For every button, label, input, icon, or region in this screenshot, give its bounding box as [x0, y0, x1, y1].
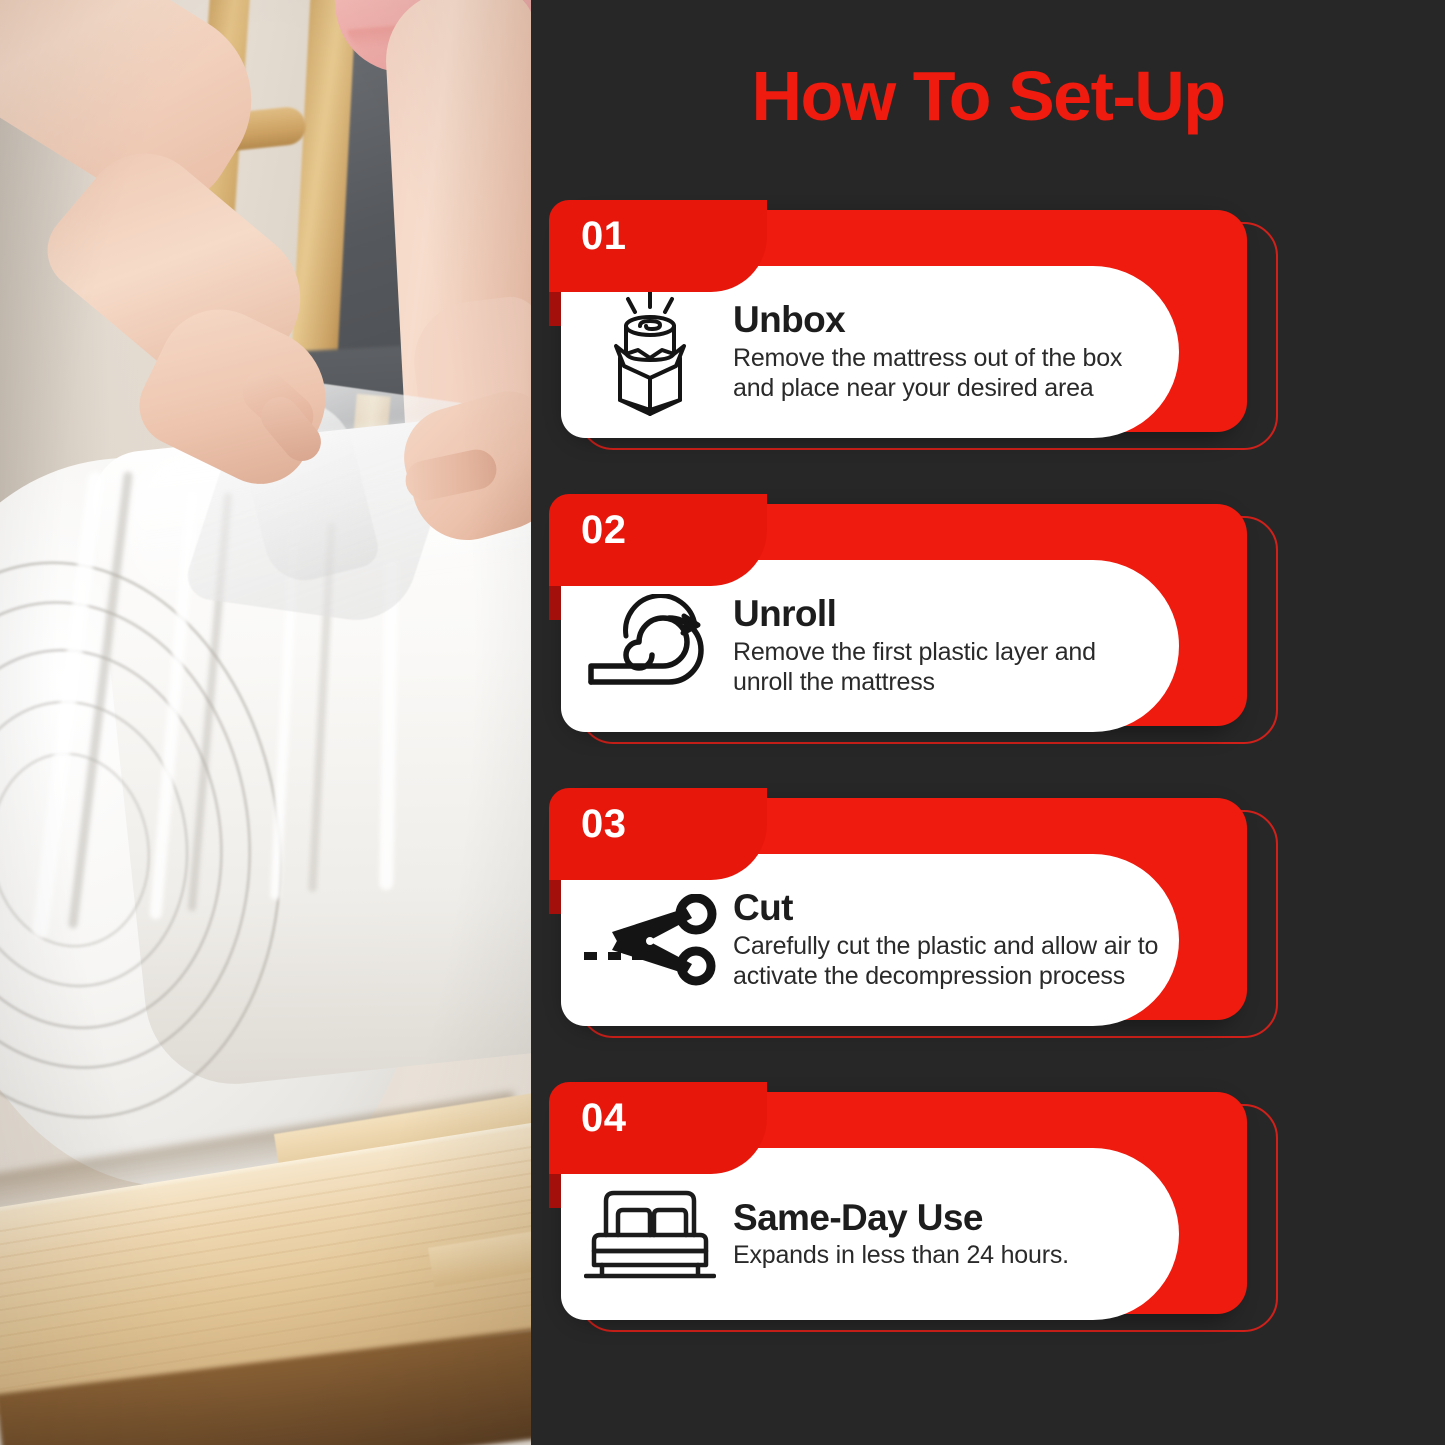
step-title: Unbox	[733, 300, 1161, 339]
step-text-block: Unroll Remove the first plastic layer an…	[725, 594, 1179, 697]
steps-list: 01	[531, 200, 1445, 1376]
step-number-tab: 04	[549, 1082, 767, 1174]
unroll-spiral-icon	[575, 571, 725, 721]
step-description: Carefully cut the plastic and allow air …	[733, 931, 1161, 992]
step-card-01[interactable]: 01	[543, 200, 1278, 450]
page-title: How To Set-Up	[531, 56, 1445, 136]
step-text-block: Same-Day Use Expands in less than 24 hou…	[725, 1198, 1179, 1271]
scissors-icon	[575, 865, 725, 1015]
step-title: Same-Day Use	[733, 1198, 1161, 1237]
step-number-tab: 02	[549, 494, 767, 586]
step-card-02[interactable]: 02 Unroll	[543, 494, 1278, 744]
mattress-unwrapping-photo	[0, 0, 531, 1445]
step-number-label: 02	[581, 510, 627, 550]
step-description: Expands in less than 24 hours.	[733, 1240, 1161, 1271]
step-card-04[interactable]: 04	[543, 1082, 1278, 1332]
open-box-icon	[575, 277, 725, 427]
step-number-label: 04	[581, 1098, 627, 1138]
step-card-03[interactable]: 03	[543, 788, 1278, 1038]
step-description: Remove the first plastic layer and unrol…	[733, 637, 1161, 698]
step-description: Remove the mattress out of the box and p…	[733, 343, 1161, 404]
how-to-set-up-infographic: How To Set-Up 01	[0, 0, 1445, 1445]
steps-panel: How To Set-Up 01	[531, 0, 1445, 1445]
step-number-label: 03	[581, 804, 627, 844]
step-text-block: Cut Carefully cut the plastic and allow …	[725, 888, 1179, 991]
step-text-block: Unbox Remove the mattress out of the box…	[725, 300, 1179, 403]
step-number-tab: 01	[549, 200, 767, 292]
step-number-label: 01	[581, 216, 627, 256]
bed-icon	[575, 1159, 725, 1309]
step-title: Unroll	[733, 594, 1161, 633]
step-title: Cut	[733, 888, 1161, 927]
step-number-tab: 03	[549, 788, 767, 880]
